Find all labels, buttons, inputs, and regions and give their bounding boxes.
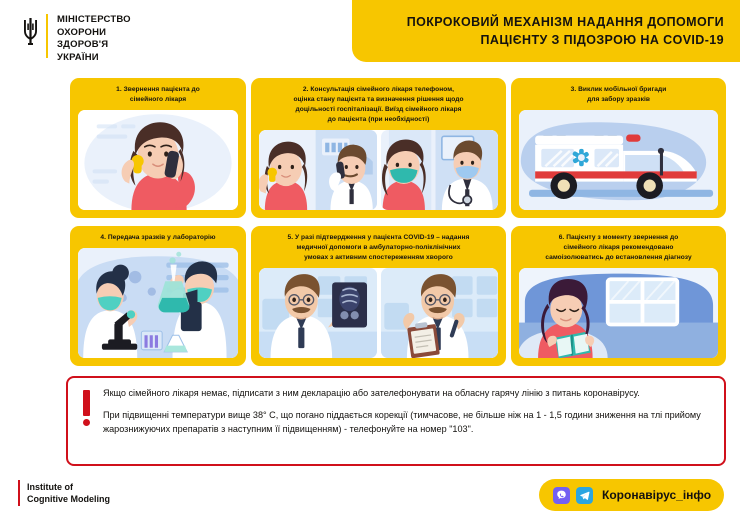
step-1-illustration (78, 110, 238, 210)
step-5-illustration-left (259, 268, 377, 358)
step-1-title: 1. Звернення пацієнта до сімейного лікар… (78, 85, 238, 105)
step-5-illustration-right (381, 268, 499, 358)
step-6-illustration (519, 268, 718, 358)
step-2-illustration-left (259, 130, 377, 210)
ministry-line-1: МІНІСТЕРСТВО (57, 14, 131, 27)
warning-note-body: Якщо сімейного лікаря немає, підписати з… (103, 387, 712, 436)
step-5-title-line-3: умовах з активним спостереженням хворого (259, 253, 498, 263)
step-3-title-line-2: для забору зразків (519, 95, 718, 105)
step-card-4: 4. Передача зразків у лабораторію (70, 226, 246, 366)
step-3-illustration (519, 110, 718, 210)
step-3-title-line-1: 3. Виклик мобільної бригади (519, 85, 718, 95)
step-6-title-line-1: 6. Пацієнту з моменту звернення до (519, 233, 718, 243)
step-6-title: 6. Пацієнту з моменту звернення до сімей… (519, 233, 718, 263)
warning-note: Якщо сімейного лікаря немає, підписати з… (66, 376, 726, 466)
ministry-line-4: УКРАЇНИ (57, 52, 131, 65)
step-3-title: 3. Виклик мобільної бригади для забору з… (519, 85, 718, 105)
ministry-logo: МІНІСТЕРСТВО ОХОРОНИ ЗДОРОВ'Я УКРАЇНИ (22, 14, 131, 64)
step-5-illustration (259, 268, 498, 358)
step-2-illustration-right (381, 130, 499, 210)
page-title-line-1: ПОКРОКОВИЙ МЕХАНІЗМ НАДАННЯ ДОПОМОГИ (407, 13, 724, 31)
step-6-title-line-2: сімейного лікаря рекомендовано (519, 243, 718, 253)
viber-icon[interactable] (553, 487, 570, 504)
header-banner: ПОКРОКОВИЙ МЕХАНІЗМ НАДАННЯ ДОПОМОГИ ПАЦ… (352, 0, 740, 62)
step-4-title: 4. Передача зразків у лабораторію (78, 233, 238, 243)
logo-divider (46, 14, 48, 58)
institute-line-2: Cognitive Modeling (27, 493, 110, 505)
institute-name: Institute of Cognitive Modeling (27, 481, 110, 505)
step-card-6: 6. Пацієнту з моменту звернення до сімей… (511, 226, 726, 366)
chat-badge-label: Коронавірус_інфо (602, 488, 711, 502)
step-2-title-line-4: до пацієнта (при необхідності) (259, 115, 498, 125)
step-card-2: 2. Консультація сімейного лікаря телефон… (251, 78, 506, 218)
step-6-title-line-3: самоізолюватись до встановлення діагнозу (519, 253, 718, 263)
step-4-title-line-1: 4. Передача зразків у лабораторію (78, 233, 238, 243)
step-1-title-line-1: 1. Звернення пацієнта до (78, 85, 238, 95)
step-2-title-line-3: доцільності госпіталізації. Виїзд сімейн… (259, 105, 498, 115)
institute-accent-bar (18, 480, 20, 506)
step-2-title-line-2: оцінка стану пацієнта та визначення ріше… (259, 95, 498, 105)
page-title-line-2: ПАЦІЄНТУ З ПІДОЗРОЮ НА COVID-19 (407, 31, 724, 49)
step-card-5: 5. У разі підтвердження у пацієнта COVID… (251, 226, 506, 366)
step-2-illustration (259, 130, 498, 210)
chat-badge[interactable]: Коронавірус_інфо (539, 479, 724, 511)
telegram-icon[interactable] (576, 487, 593, 504)
footer-divider (0, 470, 740, 472)
step-2-title: 2. Консультація сімейного лікаря телефон… (259, 85, 498, 125)
warning-note-paragraph-2: При підвищенні температури вище 38° С, щ… (103, 409, 712, 437)
exclamation-dot (83, 419, 90, 426)
ministry-name: МІНІСТЕРСТВО ОХОРОНИ ЗДОРОВ'Я УКРАЇНИ (57, 14, 131, 64)
exclamation-mark-icon (78, 387, 94, 426)
step-2-title-line-1: 2. Консультація сімейного лікаря телефон… (259, 85, 498, 95)
ukraine-trident-icon (22, 14, 39, 50)
step-5-title-line-1: 5. У разі підтвердження у пацієнта COVID… (259, 233, 498, 243)
page-title: ПОКРОКОВИЙ МЕХАНІЗМ НАДАННЯ ДОПОМОГИ ПАЦ… (407, 13, 724, 49)
step-1-title-line-2: сімейного лікаря (78, 95, 238, 105)
ministry-line-3: ЗДОРОВ'Я (57, 39, 131, 52)
ministry-line-2: ОХОРОНИ (57, 27, 131, 40)
institute-logo: Institute of Cognitive Modeling (18, 480, 110, 506)
warning-note-paragraph-1: Якщо сімейного лікаря немає, підписати з… (103, 387, 712, 401)
step-card-1: 1. Звернення пацієнта до сімейного лікар… (70, 78, 246, 218)
step-5-title: 5. У разі підтвердження у пацієнта COVID… (259, 233, 498, 263)
institute-line-1: Institute of (27, 481, 110, 493)
exclamation-bar (83, 390, 90, 416)
step-4-illustration (78, 248, 238, 358)
step-card-3: 3. Виклик мобільної бригади для забору з… (511, 78, 726, 218)
infographic-page: ПОКРОКОВИЙ МЕХАНІЗМ НАДАННЯ ДОПОМОГИ ПАЦ… (0, 0, 740, 519)
step-5-title-line-2: медичної допомоги в амбулаторно-поліклін… (259, 243, 498, 253)
